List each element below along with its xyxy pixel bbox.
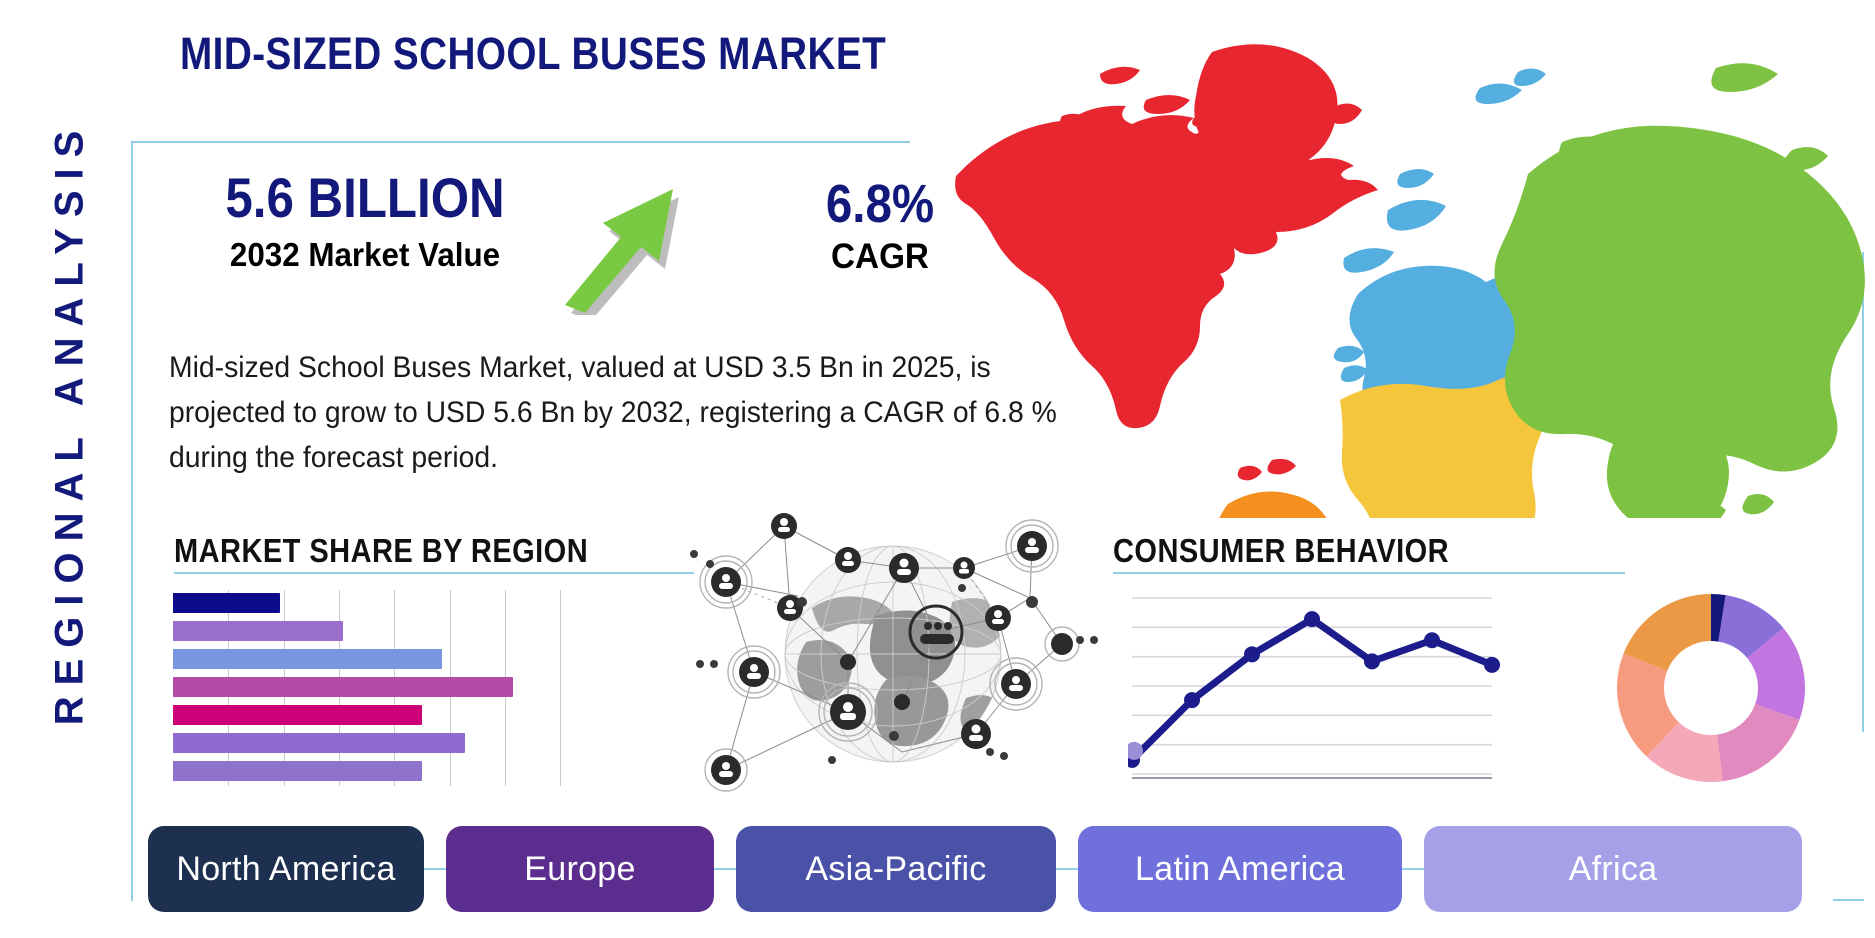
kpi-market-value-label: 2032 Market Value [180, 236, 551, 274]
line-chart-point [1484, 657, 1500, 673]
consumer-behavior-donut-chart [1606, 588, 1816, 788]
bar-chart-bar [173, 761, 422, 781]
region-connector [714, 868, 736, 870]
vertical-section-label: REGIONAL ANALYSIS [48, 73, 93, 773]
line-chart-point [1244, 646, 1260, 662]
consumer-behavior-line-chart [1128, 588, 1500, 788]
line-chart-point [1424, 632, 1440, 648]
page-title: MID-SIZED SCHOOL BUSES MARKET [180, 28, 886, 80]
donut-segment [1717, 704, 1800, 781]
bar-chart-bars [173, 590, 568, 786]
world-map-icon [940, 18, 1865, 518]
bar-chart-bar [173, 733, 465, 753]
market-share-heading-rule [174, 572, 694, 574]
bar-chart-bar [173, 621, 343, 641]
market-share-bar-chart [173, 590, 568, 786]
growth-arrow-icon [555, 165, 755, 315]
line-chart-point [1304, 611, 1320, 627]
region-button-africa[interactable]: Africa [1424, 826, 1802, 912]
region-button-asia-pacific[interactable]: Asia-Pacific [736, 826, 1056, 912]
bar-chart-bar [173, 649, 442, 669]
line-chart-point [1364, 653, 1380, 669]
global-network-globe-icon [680, 512, 1100, 802]
market-share-heading: MARKET SHARE BY REGION [174, 532, 588, 570]
region-connector [424, 868, 446, 870]
region-button-latin-america[interactable]: Latin America [1078, 826, 1402, 912]
region-button-north-america[interactable]: North America [148, 826, 424, 912]
infographic-canvas: REGIONAL ANALYSIS MID-SIZED SCHOOL BUSES… [0, 0, 1875, 938]
bar-chart-bar [173, 593, 280, 613]
region-button-europe[interactable]: Europe [446, 826, 714, 912]
bar-chart-bar [173, 705, 422, 725]
kpi-market-value-number: 5.6 BILLION [193, 165, 536, 230]
kpi-row: 5.6 BILLION 2032 Market Value 6.8% CAGR [170, 165, 930, 305]
kpi-market-value: 5.6 BILLION 2032 Market Value [170, 165, 560, 274]
region-connector [1056, 868, 1078, 870]
consumer-behavior-heading-rule [1113, 572, 1625, 574]
consumer-behavior-heading: CONSUMER BEHAVIOR [1113, 532, 1449, 570]
region-button-row: North AmericaEuropeAsia-PacificLatin Ame… [148, 823, 1860, 915]
line-chart-point [1184, 692, 1200, 708]
region-connector [1402, 868, 1424, 870]
bar-chart-bar [173, 677, 513, 697]
